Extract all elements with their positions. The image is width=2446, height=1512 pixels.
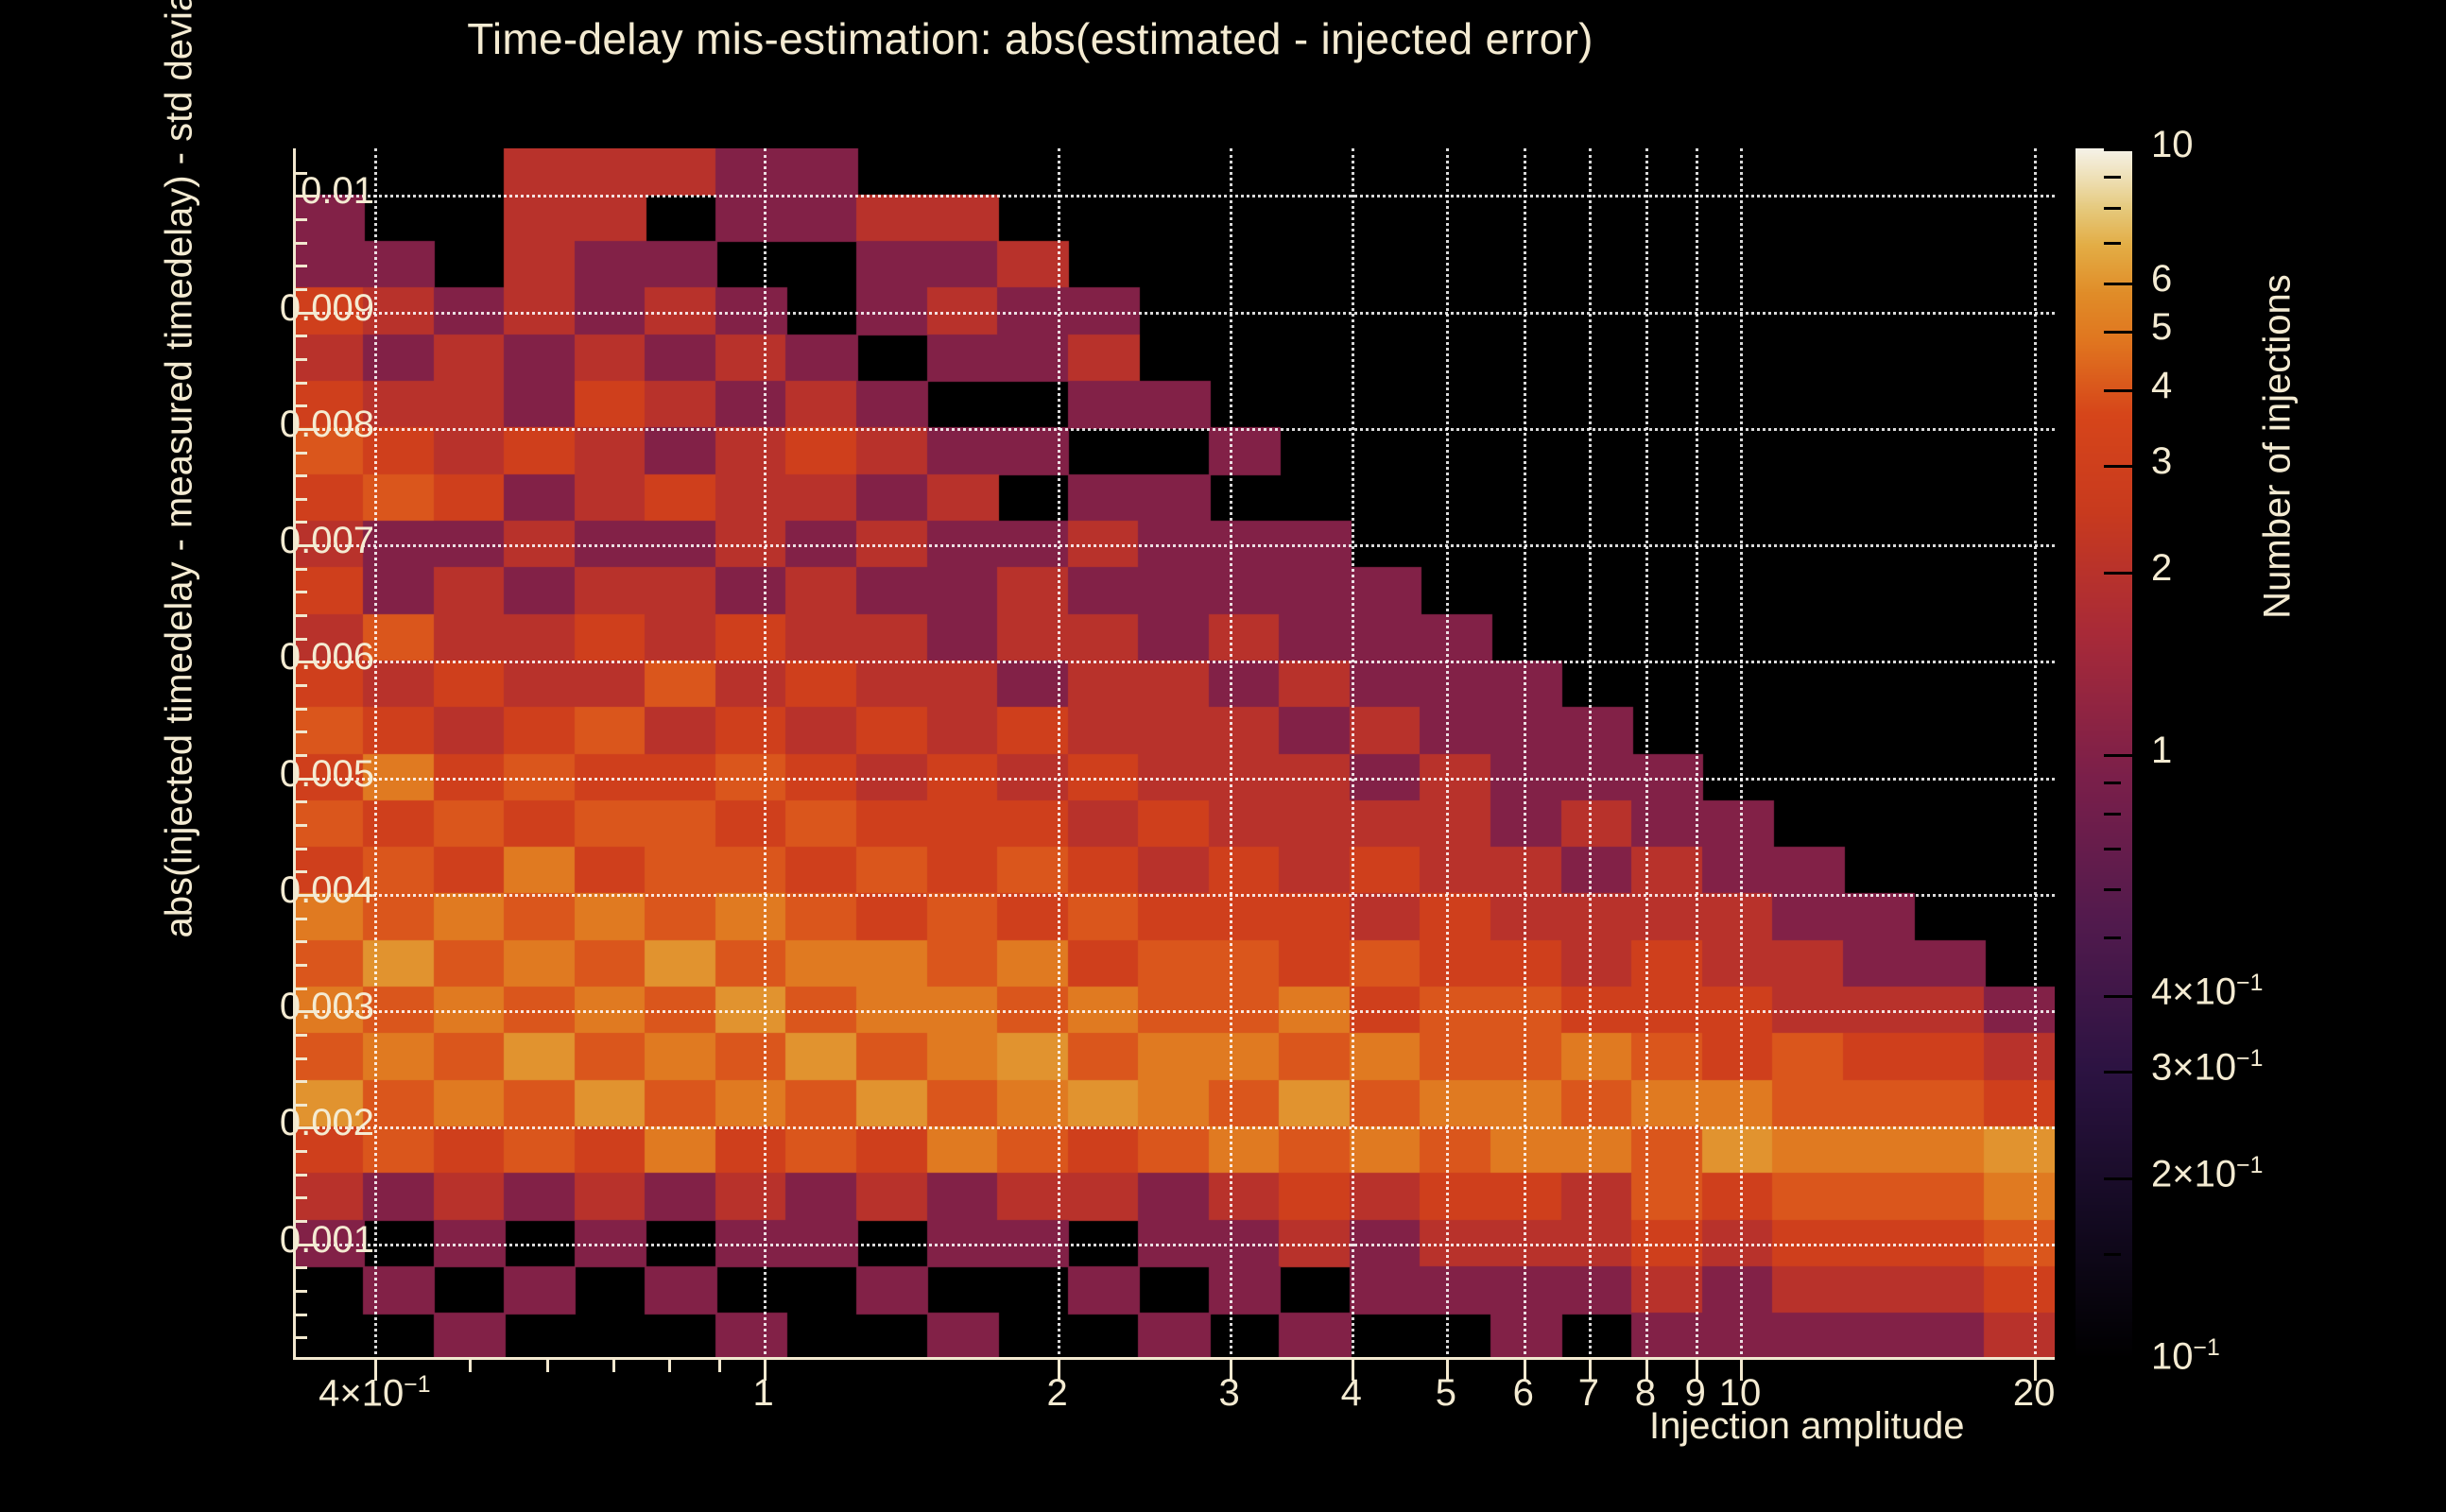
colorbar-minor-tick [2104,1253,2121,1256]
colorbar-minor-tick [2104,936,2121,939]
heatmap-plot-area[interactable] [293,148,2055,1360]
x-axis-minor-tick [1524,1360,1526,1372]
y-axis-minor-tick [293,1080,307,1083]
chart-title: Time-delay mis-estimation: abs(estimated… [0,13,2060,64]
colorbar-tick [2104,331,2132,334]
x-axis-minor-tick [374,1360,377,1372]
y-axis-minor-tick [293,521,307,524]
y-axis-minor-tick [293,918,307,920]
colorbar-tick [2104,995,2132,998]
colorbar-minor-tick [2104,888,2121,891]
colorbar-tick-label: 1 [2151,730,2172,772]
colorbar-minor-tick [2104,242,2121,245]
y-axis-minor-tick [293,382,307,385]
x-axis-minor-tick [718,1360,721,1372]
y-axis-minor-tick [293,1314,307,1316]
y-axis-minor-tick [293,312,307,315]
y-axis-minor-tick [293,1104,307,1107]
y-axis-tick-label: 0.001 [280,1219,374,1262]
colorbar-title: Number of injections [2257,107,2300,787]
y-axis-minor-tick [293,778,307,781]
y-axis-minor-tick [293,358,307,361]
y-axis-minor-tick [293,614,307,617]
colorbar-tick-label: 10 [2151,124,2194,166]
y-axis-tick-label: 0.008 [280,404,374,446]
colorbar-tick [2104,1177,2132,1180]
y-axis-minor-tick [293,730,307,733]
x-axis-tick-label: 1 [650,1372,877,1415]
colorbar-tick-label: 5 [2151,306,2172,349]
colorbar-minor-tick [2104,848,2121,850]
x-axis-minor-tick [1230,1360,1232,1372]
x-axis-minor-tick [469,1360,472,1372]
colorbar-tick-label: 10−1 [2151,1335,2220,1378]
y-axis-minor-tick [293,1034,307,1037]
y-axis-minor-tick [293,800,307,803]
y-axis-minor-tick [293,870,307,873]
y-axis-minor-tick [293,404,307,407]
x-axis-minor-tick [1446,1360,1449,1372]
y-axis-minor-tick [293,265,307,267]
colorbar-tick [2104,1360,2132,1363]
y-axis-minor-tick [293,661,307,663]
y-axis-tick-label: 0.002 [280,1102,374,1144]
heatmap-canvas[interactable] [293,148,2055,1360]
colorbar-tick [2104,148,2132,151]
y-axis-minor-tick [293,452,307,455]
y-axis-minor-tick [293,848,307,850]
y-axis-minor-tick [293,591,307,593]
y-axis-minor-tick [293,964,307,967]
y-axis-tick-label: 0.007 [280,520,374,562]
colorbar-tick-label: 6 [2151,258,2172,301]
colorbar-tick [2104,754,2132,757]
colorbar-tick [2104,572,2132,575]
y-axis-minor-tick [293,1057,307,1060]
x-axis-minor-tick [1589,1360,1592,1372]
colorbar-tick-label: 2×10−1 [2151,1153,2263,1195]
colorbar-minor-tick [2104,782,2121,784]
y-axis-minor-tick [293,708,307,711]
x-axis-minor-tick [1058,1360,1060,1372]
y-axis-minor-tick [293,1150,307,1153]
colorbar-minor-tick [2104,176,2121,179]
y-axis-tick-label: 0.006 [280,636,374,679]
y-axis-tick-label: 0.009 [280,287,374,330]
y-axis-minor-tick [293,940,307,943]
y-axis-minor-tick [293,1266,307,1269]
x-axis-title: Injection amplitude [1649,1405,1965,1448]
y-axis-minor-tick [293,428,307,431]
y-axis-minor-tick [293,824,307,827]
y-axis-minor-tick [293,1220,307,1223]
y-axis-minor-tick [293,172,307,175]
x-axis-tick-label: 4×10−1 [261,1372,488,1415]
y-axis-minor-tick [293,684,307,687]
x-axis-minor-tick [668,1360,671,1372]
y-axis-minor-tick [293,498,307,501]
y-axis-minor-tick [293,754,307,757]
y-axis-minor-tick [293,568,307,571]
y-axis-tick-label: 0.004 [280,869,374,912]
y-axis-minor-tick [293,335,307,337]
y-axis-minor-tick [293,288,307,291]
y-axis-minor-tick [293,1174,307,1177]
x-axis-minor-tick [2034,1360,2037,1372]
y-axis-minor-tick [293,638,307,641]
x-axis-minor-tick [1696,1360,1698,1372]
y-axis-tick-label: 0.01 [301,170,374,213]
colorbar-tick [2104,283,2132,285]
colorbar-tick [2104,465,2132,468]
colorbar-tick-label: 2 [2151,547,2172,590]
colorbar-tick-label: 4×10−1 [2151,971,2263,1013]
y-axis-minor-tick [293,1196,307,1199]
y-axis-tick-label: 0.005 [280,753,374,796]
y-axis-minor-tick [293,218,307,221]
x-axis-minor-tick [546,1360,549,1372]
x-axis-minor-tick [1645,1360,1648,1372]
colorbar-tick [2104,1071,2132,1074]
colorbar-tick [2104,389,2132,392]
y-axis-minor-tick [293,474,307,477]
y-axis-minor-tick [293,1336,307,1339]
colorbar-tick-label: 4 [2151,365,2172,407]
plot-canvas-root: Time-delay mis-estimation: abs(estimated… [0,0,2446,1512]
y-axis-minor-tick [293,544,307,547]
y-axis-minor-tick [293,242,307,245]
colorbar-minor-tick [2104,207,2121,210]
y-axis-minor-tick [293,988,307,990]
colorbar-tick-label: 3 [2151,440,2172,483]
y-axis-title: abs(injected timedelay - measured timede… [159,0,201,938]
y-axis-minor-tick [293,1290,307,1293]
colorbar-tick-label: 3×10−1 [2151,1046,2263,1089]
colorbar-minor-tick [2104,813,2121,816]
x-axis-minor-tick [1352,1360,1354,1372]
x-axis-minor-tick [612,1360,615,1372]
y-axis-tick-label: 0.003 [280,986,374,1028]
